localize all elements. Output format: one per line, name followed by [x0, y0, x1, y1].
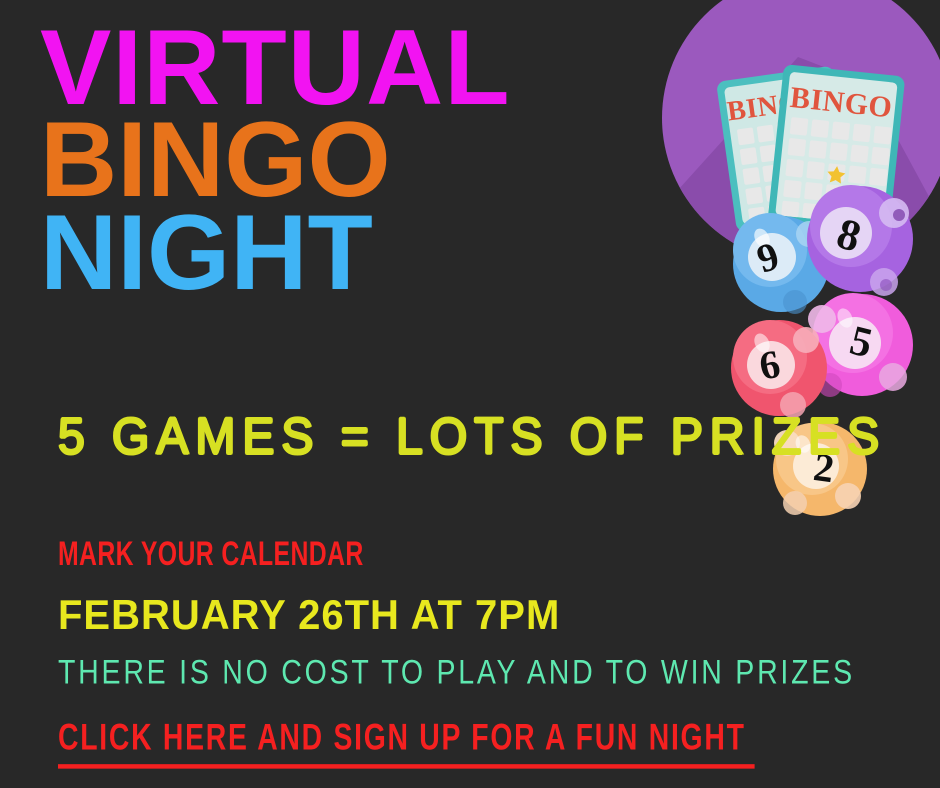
svg-text:6: 6	[756, 341, 784, 389]
bingo-ball-9: 9	[733, 213, 829, 314]
bingo-ball-8: 8	[807, 185, 913, 296]
svg-text:8: 8	[832, 208, 867, 261]
svg-text:5: 5	[845, 318, 877, 368]
mark-your-calendar-label: MARK YOUR CALENDAR	[58, 534, 364, 574]
bingo-card-front: BINGO	[767, 64, 905, 234]
event-date-time: FEBRUARY 26TH AT 7PM	[58, 592, 560, 639]
purple-circle-backdrop	[662, 0, 940, 263]
headline-block: VIRTUAL BINGO NIGHT	[40, 18, 660, 301]
bingo-night-poster: BINGO BINGO	[0, 0, 940, 788]
signup-link[interactable]: CLICK HERE AND SIGN UP FOR A FUN NIGHT	[58, 716, 754, 769]
bingo-card-back: BINGO	[716, 66, 854, 233]
free-space-star-icon	[826, 165, 846, 184]
headline-line-night: NIGHT	[40, 203, 660, 301]
bingo-ball-6: 6	[731, 320, 827, 418]
subtitle-games-prizes: 5 GAMES = LOTS OF PRIZES	[58, 408, 886, 466]
no-cost-note: THERE IS NO COST TO PLAY AND TO WIN PRIZ…	[58, 652, 855, 692]
svg-text:BINGO: BINGO	[789, 81, 894, 125]
svg-text:9: 9	[751, 233, 784, 282]
bingo-ball-5: 5	[808, 293, 913, 397]
svg-text:BINGO: BINGO	[725, 84, 824, 128]
signup-link-label: CLICK HERE AND SIGN UP FOR A FUN NIGHT	[58, 716, 754, 769]
card-long-shadow	[660, 57, 940, 420]
